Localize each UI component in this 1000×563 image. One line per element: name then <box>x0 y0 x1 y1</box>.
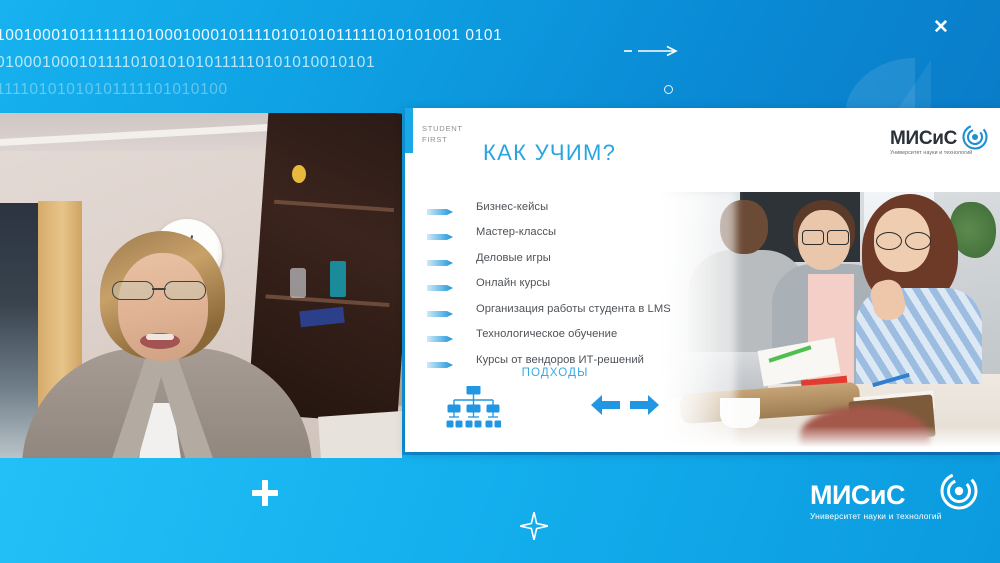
circle-decoration-icon <box>664 85 673 94</box>
presenter-video-tile[interactable] <box>0 113 402 458</box>
brand-wordmark: МИСиС <box>810 481 942 509</box>
presentation-slide[interactable]: STUDENT FIRST КАК УЧИМ? МИСиС Университе… <box>405 108 1000 452</box>
slide-logo: МИСиС Университет науки и технологий <box>890 124 990 166</box>
misis-tagline: Университет науки и технологий <box>890 150 972 156</box>
list-item-label: Онлайн курсы <box>476 277 550 289</box>
approaches-heading: ПОДХОДЫ <box>405 366 705 379</box>
list-item: Бизнес-кейсы <box>427 194 807 220</box>
slide-left-accent <box>405 108 413 153</box>
sparkle-decoration-icon <box>520 512 548 540</box>
slide-bullet-list: Бизнес-кейсы Мастер-классы Деловые игры … <box>427 194 807 373</box>
list-item: Организация работы студента в LMS <box>427 296 807 322</box>
video-shelf-object-cup <box>330 261 346 297</box>
video-presenter-glasses <box>110 281 210 299</box>
arrow-decoration-icon <box>624 44 682 56</box>
list-item-label: Мастер-классы <box>476 226 556 238</box>
video-shelf-object-ball <box>292 165 306 183</box>
slide-title: КАК УЧИМ? <box>483 140 616 166</box>
bullet-arrow-icon <box>427 279 453 287</box>
bullet-arrow-icon <box>427 330 453 338</box>
bullet-arrow-icon <box>427 356 453 364</box>
approach-icons <box>425 386 755 431</box>
screen: 1001000101111111010001000101111010101011… <box>0 0 1000 563</box>
video-presenter-mouth <box>140 333 180 349</box>
list-item-label: Деловые игры <box>476 252 551 264</box>
list-item: Мастер-классы <box>427 220 807 246</box>
video-shelf-board-1 <box>274 200 394 212</box>
bullet-arrow-icon <box>427 254 453 262</box>
binary-decoration: 1001000101111111010001000101111010101011… <box>0 22 502 103</box>
slide-eyebrow-line-1: STUDENT <box>422 124 463 135</box>
video-shelf-board-2 <box>265 294 389 307</box>
photo-person-3-glasses <box>876 232 930 249</box>
video-desk <box>318 409 402 458</box>
slide-eyebrow: STUDENT FIRST <box>422 124 463 145</box>
binary-line-3: 11110101010101111101010100 <box>0 76 502 103</box>
close-icon[interactable]: ✕ <box>930 17 952 39</box>
slide-eyebrow-line-2: FIRST <box>422 135 463 146</box>
video-shelf-object-glass <box>290 268 306 298</box>
list-item-label: Курсы от вендоров ИТ-решений <box>476 354 644 366</box>
brand-tagline: Университет науки и технологий <box>810 511 942 521</box>
list-item: Деловые игры <box>427 245 807 271</box>
bullet-arrow-icon <box>427 228 453 236</box>
list-item: Онлайн курсы <box>427 271 807 297</box>
list-item-label: Технологическое обучение <box>476 328 617 340</box>
misis-wordmark: МИСиС <box>890 129 972 149</box>
list-item-label: Бизнес-кейсы <box>476 201 548 213</box>
photo-person-2-glasses <box>802 230 848 244</box>
plus-decoration-icon <box>252 480 278 506</box>
list-item-label: Организация работы студента в LMS <box>476 303 671 315</box>
org-chart-icon <box>445 386 501 430</box>
bullet-arrow-icon <box>427 305 453 313</box>
bullet-arrow-icon <box>427 203 453 211</box>
brand-logo: МИСиС Университет науки и технологий <box>810 473 980 537</box>
binary-line-2: 0100010001011110101010101111101010100101… <box>0 49 502 76</box>
left-right-arrows-icon <box>590 392 660 422</box>
list-item: Технологическое обучение <box>427 322 807 348</box>
binary-line-1: 1001000101111111010001000101111010101011… <box>0 22 502 49</box>
